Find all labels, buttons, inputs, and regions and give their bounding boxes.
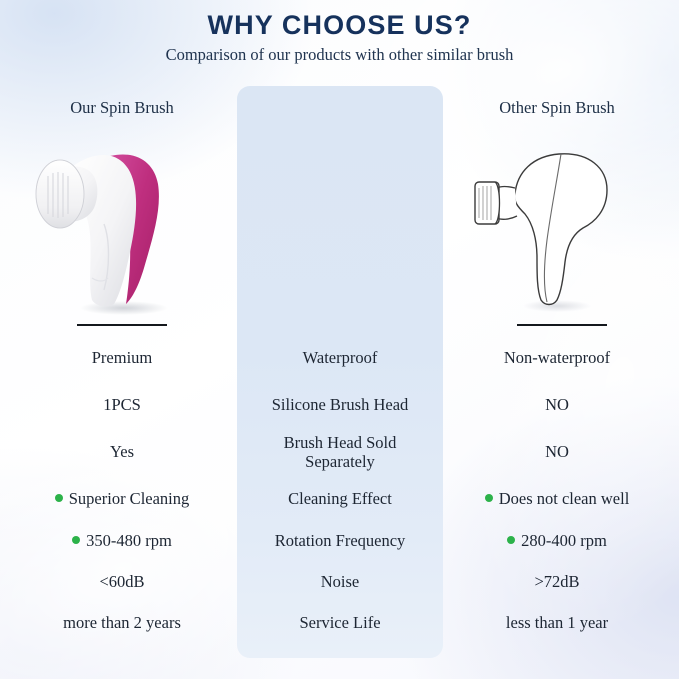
- cell-label: Non-waterproof: [504, 348, 610, 367]
- cell-label: Premium: [92, 348, 153, 367]
- cell-label: Noise: [321, 572, 360, 591]
- cell-other: Does not clean well: [443, 489, 671, 508]
- column-header-ours: Our Spin Brush: [8, 98, 236, 118]
- cell-label: 1PCS: [103, 395, 141, 414]
- bullet-icon: [507, 536, 515, 544]
- bullet-icon: [55, 494, 63, 502]
- divider-ours: [77, 324, 167, 326]
- cell-label: less than 1 year: [506, 613, 608, 632]
- cell-feature: Waterproof: [237, 348, 443, 367]
- cell-other: 280-400 rpm: [443, 531, 671, 550]
- cell-other: NO: [443, 442, 671, 461]
- column-header-other: Other Spin Brush: [443, 98, 671, 118]
- page-subtitle: Comparison of our products with other si…: [0, 45, 679, 65]
- cell-label: Superior Cleaning: [69, 489, 190, 508]
- cell-ours: 1PCS: [8, 395, 236, 414]
- cell-feature: Silicone Brush Head: [237, 395, 443, 414]
- cell-label: 350-480 rpm: [86, 531, 172, 550]
- cell-label: Rotation Frequency: [275, 531, 406, 550]
- other-spin-brush-illustration: [443, 128, 671, 318]
- bullet-icon: [485, 494, 493, 502]
- cell-feature: Noise: [237, 572, 443, 591]
- cell-ours: more than 2 years: [8, 613, 236, 632]
- cell-feature: Brush Head SoldSeparately: [237, 433, 443, 472]
- cell-label: NO: [545, 395, 569, 414]
- cell-label: Service Life: [299, 613, 380, 632]
- our-spin-brush-svg: [32, 128, 212, 318]
- cell-feature: Cleaning Effect: [237, 489, 443, 508]
- cell-label: NO: [545, 442, 569, 461]
- cell-label: Cleaning Effect: [288, 489, 392, 508]
- cell-feature: Rotation Frequency: [237, 531, 443, 550]
- cell-label: Does not clean well: [499, 489, 630, 508]
- cell-label: Waterproof: [303, 348, 378, 367]
- our-spin-brush-photo: [8, 128, 236, 318]
- cell-other: less than 1 year: [443, 613, 671, 632]
- cell-label: Brush Head Sold: [284, 433, 397, 452]
- cell-ours: <60dB: [8, 572, 236, 591]
- other-spin-brush-svg: [467, 128, 647, 318]
- cell-ours: 350-480 rpm: [8, 531, 236, 550]
- cell-label: Yes: [110, 442, 134, 461]
- cell-label: 280-400 rpm: [521, 531, 607, 550]
- page-title: WHY CHOOSE US?: [0, 10, 679, 41]
- cell-label: more than 2 years: [63, 613, 181, 632]
- cell-label: Silicone Brush Head: [272, 395, 409, 414]
- cell-ours: Premium: [8, 348, 236, 367]
- bullet-icon: [72, 536, 80, 544]
- cell-ours: Yes: [8, 442, 236, 461]
- divider-other: [517, 324, 607, 326]
- cell-feature: Service Life: [237, 613, 443, 632]
- comparison-infographic: WHY CHOOSE US? Comparison of our product…: [0, 0, 679, 679]
- cell-label: >72dB: [534, 572, 579, 591]
- cell-other: Non-waterproof: [443, 348, 671, 367]
- cell-other: NO: [443, 395, 671, 414]
- cell-label: Separately: [305, 452, 375, 471]
- cell-other: >72dB: [443, 572, 671, 591]
- cell-ours: Superior Cleaning: [8, 489, 236, 508]
- cell-label: <60dB: [99, 572, 144, 591]
